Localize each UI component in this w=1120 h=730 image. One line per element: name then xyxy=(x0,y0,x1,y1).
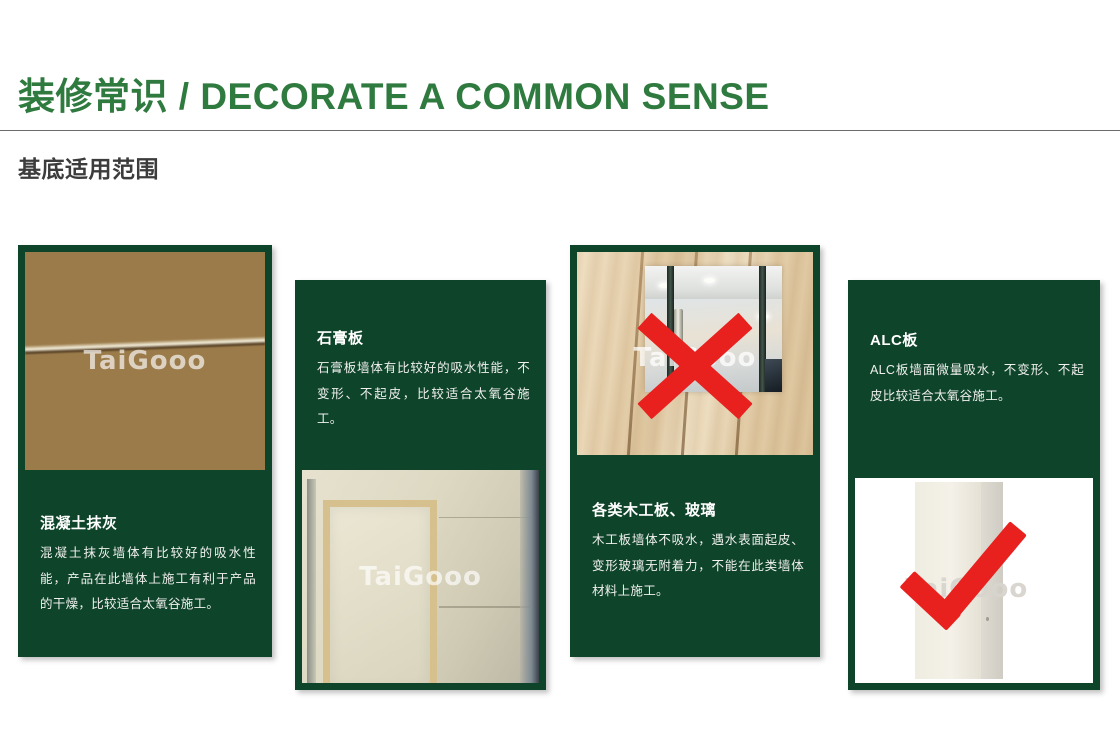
card-grid: TaiGooo 混凝土抹灰 混凝土抹灰墙体有比较好的吸水性能，产品在此墙体上施工… xyxy=(0,0,1120,730)
ceiling-light-detail xyxy=(704,278,715,283)
card-text-concrete-plaster: 混凝土抹灰 混凝土抹灰墙体有比较好的吸水性能，产品在此墙体上施工有利于产品的干燥… xyxy=(40,513,256,618)
card-body: 混凝土抹灰墙体有比较好的吸水性能，产品在此墙体上施工有利于产品的干燥，比较适合太… xyxy=(40,541,256,618)
wall-edge-detail xyxy=(520,470,539,683)
gypsum-wall-image xyxy=(302,470,539,683)
card-photo-alc-board: TaiGooo xyxy=(855,478,1093,683)
card-body: 石膏板墙体有比较好的吸水性能，不变形、不起皮，比较适合太氧谷施工。 xyxy=(317,356,530,433)
card-title: 各类木工板、玻璃 xyxy=(592,500,804,521)
card-text-alc-board: ALC板 ALC板墙面微量吸水，不变形、不起皮比较适合太氧谷施工。 xyxy=(870,330,1084,409)
board-panel-detail xyxy=(981,482,1002,679)
card-title: ALC板 xyxy=(870,330,1084,351)
board-seam-detail xyxy=(439,517,529,519)
card-photo-concrete-plaster: TaiGooo xyxy=(25,252,265,470)
card-text-gypsum-board: 石膏板 石膏板墙体有比较好的吸水性能，不变形、不起皮，比较适合太氧谷施工。 xyxy=(317,328,530,433)
door-handle-detail xyxy=(674,309,683,349)
wood-groove-detail xyxy=(626,252,645,455)
card-body: 木工板墙体不吸水，遇水表面起皮、变形玻璃无附着力，不能在此类墙体材料上施工。 xyxy=(592,528,804,605)
timber-frame-detail xyxy=(323,500,437,683)
card-gypsum-board[interactable]: 石膏板 石膏板墙体有比较好的吸水性能，不变形、不起皮，比较适合太氧谷施工。 Ta… xyxy=(295,280,546,690)
card-woodwork-board-glass[interactable]: TaiGooo 各类木工板、玻璃 木工板墙体不吸水，遇水表面起皮、变形玻璃无附着… xyxy=(570,245,820,657)
card-photo-woodwork-board-glass: TaiGooo xyxy=(577,252,813,455)
card-photo-gypsum-board: TaiGooo xyxy=(302,470,539,683)
dark-reflection-detail xyxy=(765,359,783,392)
board-seam-detail xyxy=(439,606,529,608)
board-panel-detail xyxy=(915,482,982,679)
card-concrete-plaster[interactable]: TaiGooo 混凝土抹灰 混凝土抹灰墙体有比较好的吸水性能，产品在此墙体上施工… xyxy=(18,245,272,657)
card-text-woodwork-board-glass: 各类木工板、玻璃 木工板墙体不吸水，遇水表面起皮、变形玻璃无附着力，不能在此类墙… xyxy=(592,500,804,605)
card-title: 混凝土抹灰 xyxy=(40,513,256,534)
concrete-texture-image xyxy=(25,252,265,470)
card-title: 石膏板 xyxy=(317,328,530,349)
glass-door-inset-image xyxy=(645,266,782,392)
door-jamb-detail xyxy=(307,479,316,683)
card-body: ALC板墙面微量吸水，不变形、不起皮比较适合太氧谷施工。 xyxy=(870,358,1084,409)
card-alc-board[interactable]: ALC板 ALC板墙面微量吸水，不变形、不起皮比较适合太氧谷施工。 TaiGoo… xyxy=(848,280,1100,690)
wood-panel-image xyxy=(577,252,813,455)
alc-board-image xyxy=(855,478,1093,683)
